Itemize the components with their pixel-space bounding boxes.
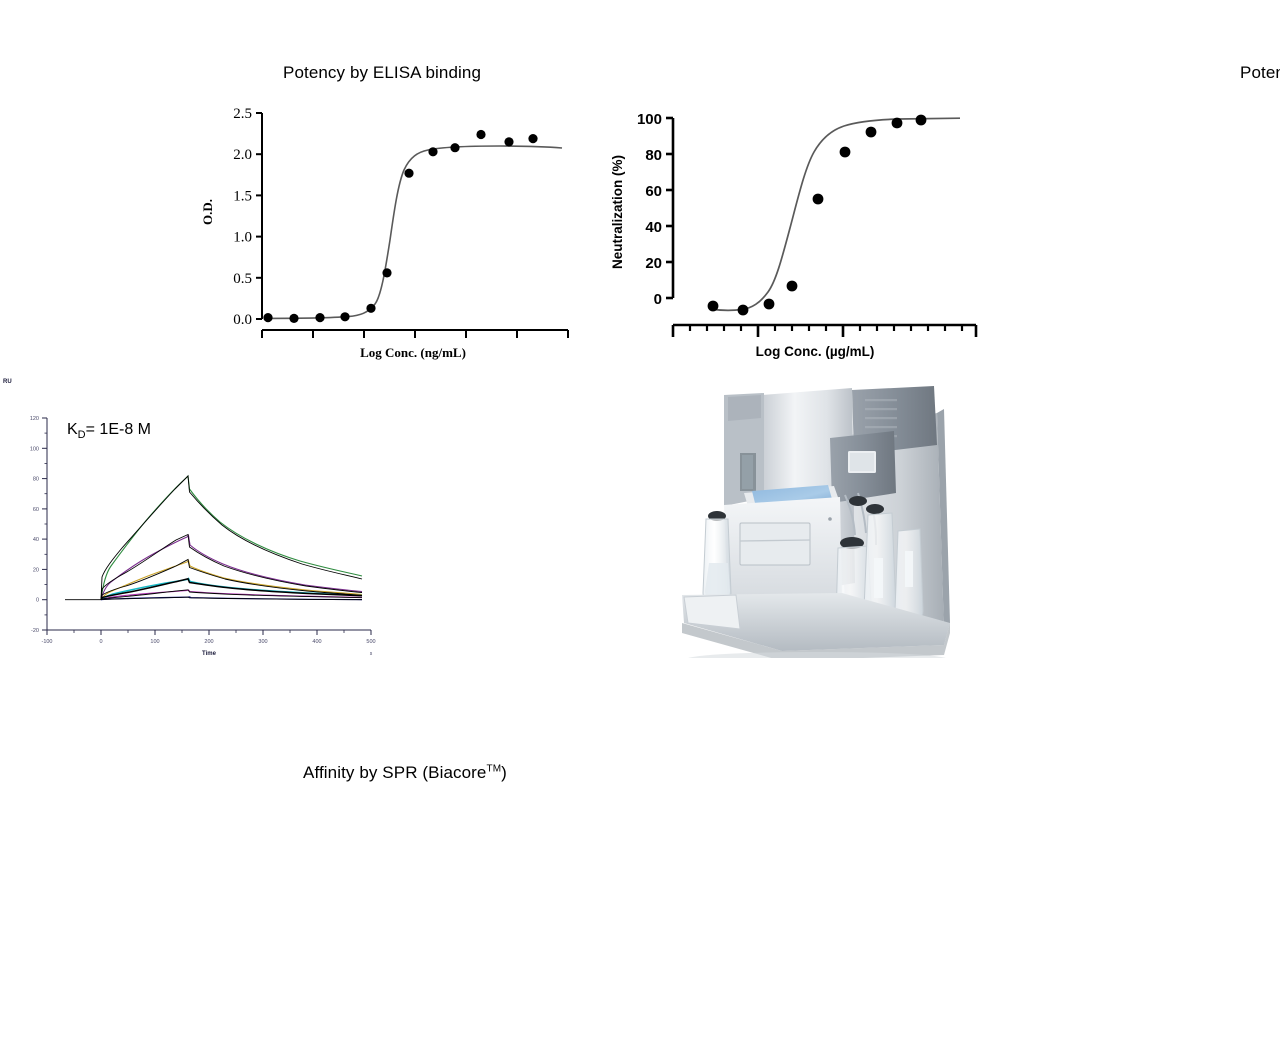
spr-ytick-minus20: -20: [31, 628, 39, 634]
elisa-ytick-0-0: 0.0: [233, 312, 252, 328]
biacore-instrument-image: [662, 383, 962, 658]
elisa-ytick-2-5: 2.5: [233, 106, 252, 122]
elisa-point: [382, 268, 391, 277]
spr-kd-annotation: KD= 1E-8 M: [67, 421, 151, 441]
panel-spr-sensorgram: Affinity by SPR (BiacoreTM) RU 120 10: [0, 370, 620, 720]
elisa-point: [476, 130, 485, 139]
neut-point: [840, 147, 851, 158]
panel-elisa-chart: Potency by ELISA binding 2.5 2.0 1.5 1.0…: [0, 0, 610, 370]
spr-x-axis-unit: s: [370, 651, 373, 657]
spr-xtick-500: 500: [366, 639, 375, 645]
elisa-data-points: [263, 130, 537, 323]
spr-title-main: Affinity by SPR (Biacore: [303, 763, 487, 782]
elisa-chart-title: Potency by ELISA binding: [283, 63, 481, 83]
instrument-drawer-face: [740, 523, 810, 565]
instrument-left-window-glass: [742, 455, 753, 489]
elisa-point: [528, 134, 537, 143]
neut-point: [787, 281, 798, 292]
elisa-chart-svg: 2.5 2.0 1.5 1.0 0.5 0.0 O.D. Log Conc. (…: [0, 0, 610, 370]
elisa-y-axis: 2.5 2.0 1.5 1.0 0.5 0.0: [233, 106, 262, 328]
neutralization-y-axis: 100 80 60 40 20 0: [637, 111, 673, 308]
spr-ytick-40: 40: [33, 537, 39, 543]
elisa-point: [340, 312, 349, 321]
elisa-point: [289, 314, 298, 323]
spr-kd-value: = 1E-8 M: [86, 421, 151, 438]
elisa-point: [428, 147, 437, 156]
neutralization-chart-title: Potency by pseudovirus neutralization as…: [1240, 63, 1280, 83]
instrument-waste-tray: [684, 595, 740, 629]
elisa-y-axis-label: O.D.: [200, 199, 215, 225]
elisa-ytick-1-5: 1.5: [233, 188, 252, 204]
neut-x-axis-label: Log Conc. (µg/mL): [756, 344, 875, 359]
spr-xtick-100: 100: [150, 639, 159, 645]
neut-ytick-40: 40: [645, 219, 662, 236]
neut-y-axis-label: Neutralization (%): [610, 155, 625, 269]
neut-point: [892, 118, 903, 129]
spr-ytick-0: 0: [36, 598, 39, 604]
spr-fit-conc-6: [101, 597, 362, 600]
instrument-status-led: [828, 517, 832, 521]
spr-sensorgram-svg: RU 120 100 80 60 40 20: [0, 370, 620, 720]
spr-title-trademark: TM: [487, 763, 502, 774]
elisa-ytick-1-0: 1.0: [233, 230, 252, 246]
elisa-point: [450, 143, 459, 152]
neut-ytick-0: 0: [654, 291, 662, 308]
panel-instrument-photo: 表面等离子共振仪 BiacoreTM: [640, 370, 1280, 720]
spr-xtick-400: 400: [312, 639, 321, 645]
spr-ytick-20: 20: [33, 567, 39, 573]
neut-point: [916, 115, 927, 126]
spr-x-axis-label: Time: [202, 651, 217, 657]
spr-kd-prefix: K: [67, 421, 78, 438]
spr-ytick-100: 100: [30, 446, 39, 452]
elisa-fit-curve: [268, 146, 562, 318]
spr-chart-title: Affinity by SPR (BiacoreTM): [303, 763, 507, 783]
spr-ytick-120: 120: [30, 416, 39, 422]
instrument-display-inner: [850, 453, 874, 471]
elisa-x-axis: [262, 330, 568, 338]
elisa-point: [315, 313, 324, 322]
elisa-x-axis-label: Log Conc. (ng/mL): [360, 345, 466, 360]
neut-point: [708, 301, 719, 312]
spr-y-axis: 120 100 80 60 40 20 0 -20: [30, 416, 47, 634]
elisa-ytick-0-5: 0.5: [233, 271, 252, 287]
spr-xtick-200: 200: [204, 639, 213, 645]
neut-point: [866, 127, 877, 138]
spr-kd-subscript: D: [78, 429, 86, 441]
neutralization-chart-svg: 100 80 60 40 20 0 Neutralization (%): [600, 0, 1280, 370]
spr-x-axis: -100 0 100 200 300 400 500 Time s: [41, 630, 375, 657]
spr-xtick-0: 0: [99, 639, 102, 645]
elisa-point: [263, 313, 272, 322]
neut-ytick-20: 20: [645, 255, 662, 272]
spr-ytick-80: 80: [33, 477, 39, 483]
neut-ytick-60: 60: [645, 183, 662, 200]
elisa-ytick-2-0: 2.0: [233, 147, 252, 163]
spr-ytick-60: 60: [33, 507, 39, 513]
neut-point: [764, 299, 775, 310]
elisa-point: [404, 169, 413, 178]
spr-xtick-minus100: -100: [41, 639, 52, 645]
neut-ytick-80: 80: [645, 147, 662, 164]
neut-ytick-100: 100: [637, 111, 662, 128]
elisa-point: [366, 304, 375, 313]
panel-neutralization-chart: Potency by pseudovirus neutralization as…: [600, 0, 1280, 370]
neut-point: [813, 194, 824, 205]
neutralization-x-axis: [673, 325, 976, 337]
spr-xtick-300: 300: [258, 639, 267, 645]
neut-point: [738, 305, 749, 316]
spr-curves: [101, 476, 362, 600]
neutralization-data-points: [708, 115, 927, 316]
neutralization-fit-curve: [710, 118, 960, 310]
elisa-point: [504, 137, 513, 146]
spr-title-close: ): [501, 763, 507, 782]
spr-y-axis-label: RU: [3, 379, 12, 385]
instrument-left-slab-label: [728, 395, 761, 421]
